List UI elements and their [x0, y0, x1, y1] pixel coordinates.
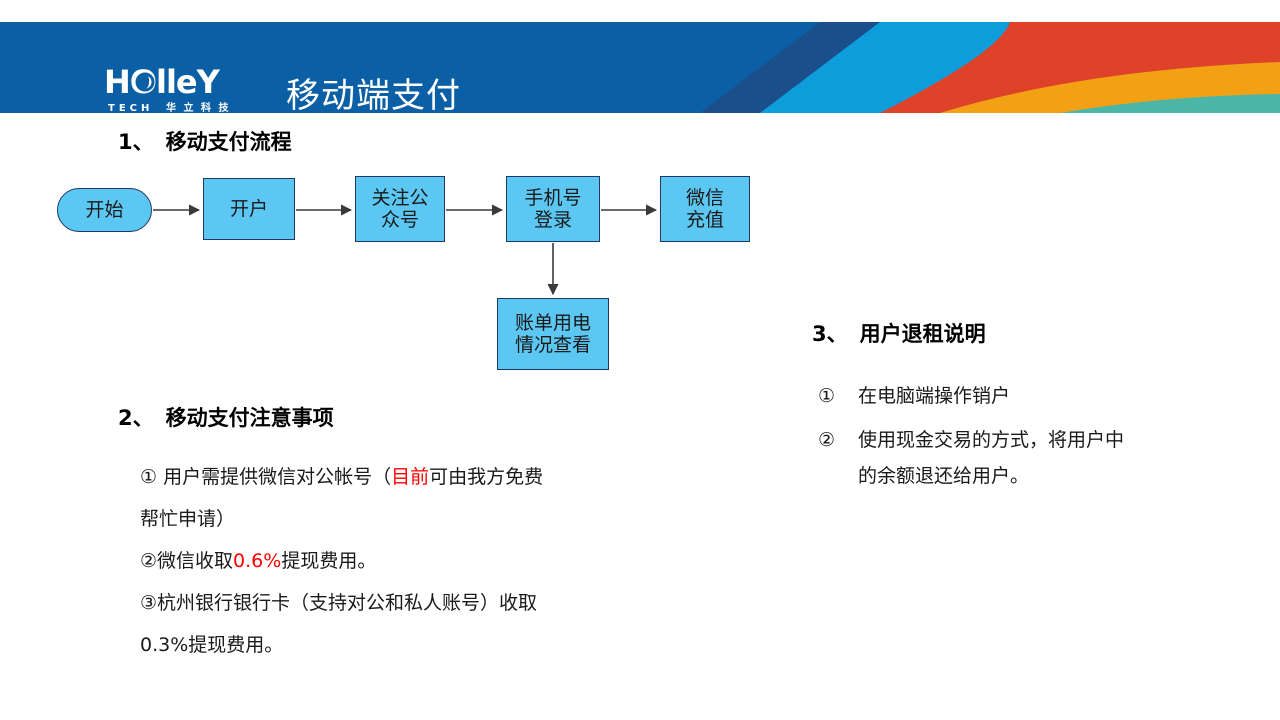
refund-list-item: ① 在电脑端操作销户 [818, 378, 1248, 414]
note-item-1-highlight: 目前 [391, 466, 429, 488]
refund-list-item: ② 使用现金交易的方式，将用户中的余额退还给用户。 [818, 422, 1248, 494]
section-3-body: ① 在电脑端操作销户 ② 使用现金交易的方式，将用户中的余额退还给用户。 [818, 378, 1248, 502]
note-item-3-line-2: 0.3%提现费用。 [140, 624, 720, 666]
refund-item-2-line-1: 使用现金交易的方式，将用户中 [858, 429, 1124, 451]
flow-node-follow-official-account[interactable]: 关注公众号 [355, 176, 445, 242]
svg-text:HOlleY: HOlleY [104, 63, 221, 101]
flow-node-follow-label: 关注公众号 [371, 187, 428, 232]
flow-node-open-account[interactable]: 开户 [203, 178, 295, 240]
refund-item-2-marker: ② [818, 422, 858, 494]
refund-item-2-text: 使用现金交易的方式，将用户中的余额退还给用户。 [858, 422, 1248, 494]
section-1-title: 移动支付流程 [166, 130, 292, 154]
section-1-heading: 1、移动支付流程 [118, 126, 292, 156]
slide-header: HOlleY TECH 华 立 科 技 移动端支付 [0, 22, 1280, 113]
refund-item-2-line-2: 的余额退还给用户。 [858, 465, 1029, 487]
svg-text:华 立 科 技: 华 立 科 技 [166, 101, 230, 113]
refund-item-1-text: 在电脑端操作销户 [858, 378, 1248, 414]
note-item-1-line-1: ① 用户需提供微信对公帐号（目前可由我方免费 [140, 456, 720, 498]
flow-node-phone-login[interactable]: 手机号登录 [506, 176, 600, 242]
flow-node-start[interactable]: 开始 [57, 188, 152, 232]
svg-text:TECH: TECH [108, 103, 153, 113]
note-item-1-post: 可由我方免费 [429, 466, 543, 488]
note-item-2-pre: ②微信收取 [140, 550, 233, 572]
refund-item-1-marker: ① [818, 378, 858, 414]
flow-node-bill-usage-view[interactable]: 账单用电情况查看 [497, 298, 609, 370]
header-title: 移动端支付 [286, 68, 461, 113]
section-2-body: ① 用户需提供微信对公帐号（目前可由我方免费 帮忙申请） ②微信收取0.6%提现… [140, 456, 720, 666]
note-item-2-post: 提现费用。 [281, 550, 376, 572]
section-3-heading: 3、用户退租说明 [812, 318, 986, 348]
slide-canvas: HOlleY TECH 华 立 科 技 移动端支付 1、移动支付流程 开始 开户… [0, 0, 1280, 720]
holley-tech-logo: HOlleY TECH 华 立 科 技 [104, 63, 264, 113]
note-item-3-line-1: ③杭州银行银行卡（支持对公和私人账号）收取 [140, 582, 720, 624]
flow-node-bill-label: 账单用电情况查看 [515, 312, 591, 357]
note-item-1-line-2: 帮忙申请） [140, 498, 720, 540]
section-2-number: 2、 [118, 406, 154, 430]
note-item-1-pre: ① 用户需提供微信对公帐号（ [140, 466, 391, 488]
section-2-title: 移动支付注意事项 [166, 406, 334, 430]
section-2-heading: 2、移动支付注意事项 [118, 402, 334, 432]
section-3-number: 3、 [812, 322, 848, 346]
note-item-2-highlight: 0.6% [233, 550, 281, 572]
flow-node-recharge-label: 微信充值 [686, 187, 724, 232]
flow-node-wechat-recharge[interactable]: 微信充值 [660, 176, 750, 242]
section-1-number: 1、 [118, 130, 154, 154]
flow-node-login-label: 手机号登录 [524, 187, 581, 232]
section-3-title: 用户退租说明 [860, 322, 986, 346]
note-item-2: ②微信收取0.6%提现费用。 [140, 540, 720, 582]
